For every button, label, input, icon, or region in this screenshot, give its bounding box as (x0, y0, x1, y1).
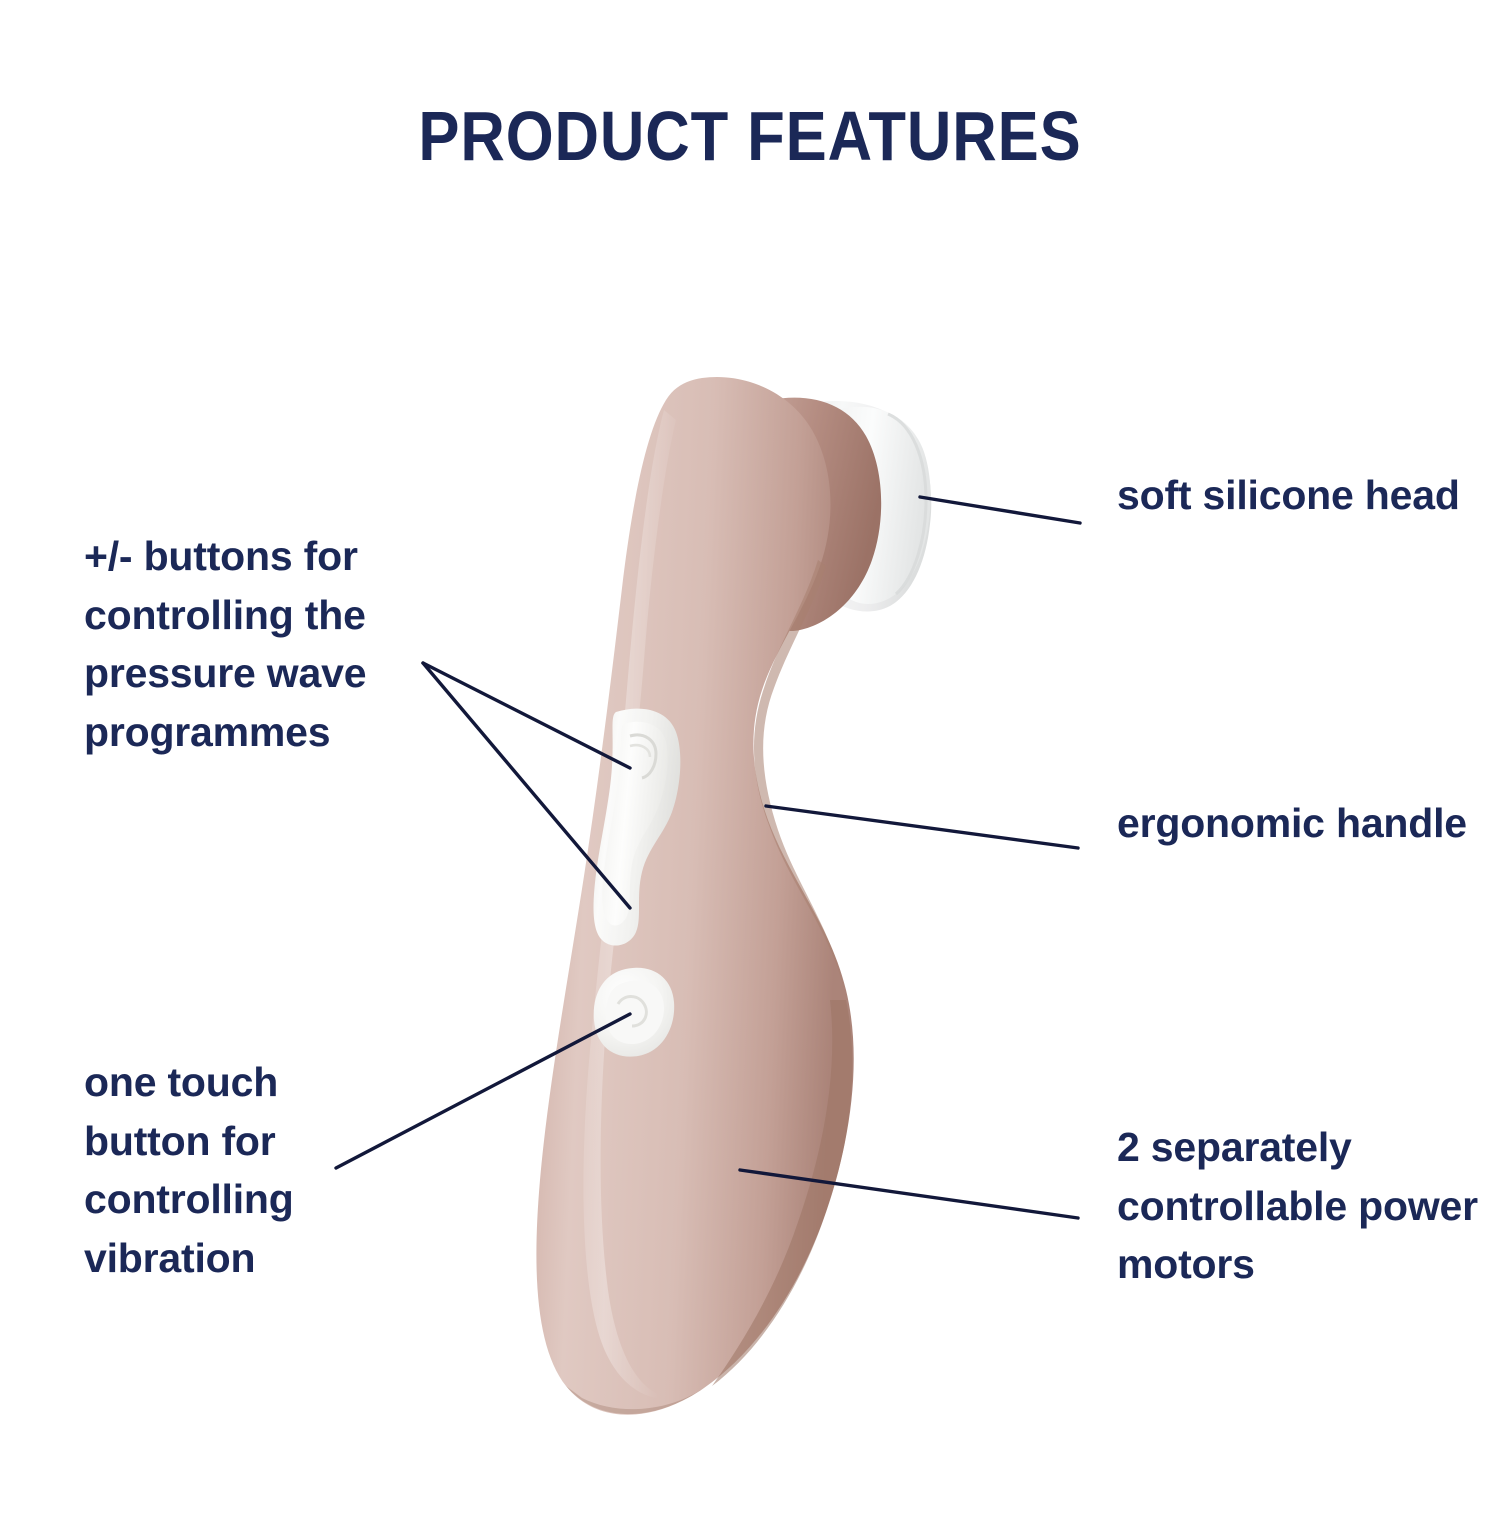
leader-line-handle (766, 806, 1078, 848)
callout-label-power-motors: 2 separately controllable power motors (1117, 1118, 1487, 1294)
callout-label-one-touch-button: one touch button for controlling vibrati… (84, 1053, 384, 1288)
callout-label-plus-minus-buttons: +/- buttons for controlling the pressure… (84, 527, 484, 762)
product-features-infographic: PRODUCT FEATURES (0, 0, 1500, 1517)
leader-line-head (920, 497, 1080, 523)
callout-label-ergonomic-handle: ergonomic handle (1117, 794, 1487, 853)
product-body-group (536, 377, 931, 1415)
callout-label-soft-silicone-head: soft silicone head (1117, 466, 1487, 525)
